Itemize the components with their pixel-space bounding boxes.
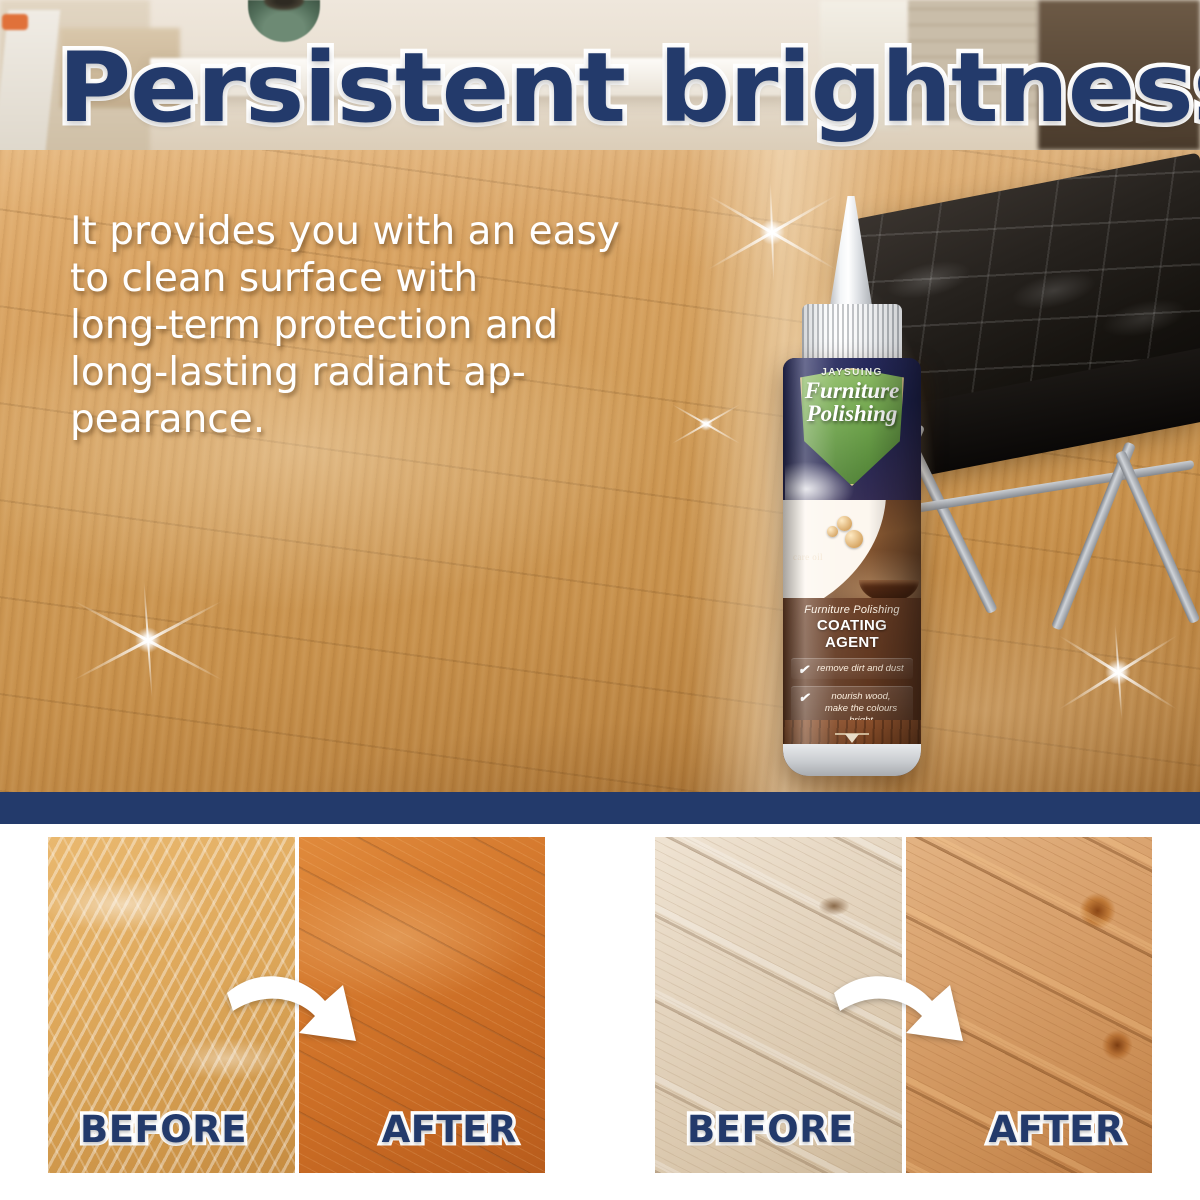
comparison-section: BEFORE AFTER BEFORE AFTER	[0, 824, 1200, 1200]
bottle-label: JAYSUING Furniture Polishing care oil Fu…	[783, 358, 921, 776]
after-label: AFTER	[382, 1108, 517, 1151]
hero-description: It provides you with an easy to clean su…	[70, 208, 670, 443]
brand-name: JAYSUING	[821, 367, 882, 378]
comparison-panel-1: BEFORE AFTER	[48, 837, 545, 1173]
hero-description-line: pearance.	[70, 396, 670, 443]
drawer-handle-icon	[832, 726, 872, 742]
hero-description-line: long-lasting radiant ap-	[70, 349, 670, 396]
label-bullet: ✔ remove dirt and dust	[791, 658, 913, 679]
curved-arrow-icon	[832, 971, 982, 1066]
bench-leg	[1115, 450, 1200, 624]
label-subtitle: Furniture Polishing	[791, 604, 913, 616]
comparison-panel-2: BEFORE AFTER	[655, 837, 1152, 1173]
product-name-line2: Polishing	[807, 402, 898, 425]
page-title: Persistent brightness	[58, 36, 1192, 140]
bottle-cap	[802, 304, 902, 366]
label-info-section: Furniture Polishing COATING AGENT ✔ remo…	[783, 598, 921, 726]
label-product-type: COATING AGENT	[791, 617, 913, 651]
product-bottle: JAYSUING Furniture Polishing care oil Fu…	[757, 196, 943, 776]
product-name-line1: Furniture	[805, 379, 900, 402]
bottle-base	[783, 744, 921, 776]
hero-description-line: long-term protection and	[70, 302, 670, 349]
check-icon: ✔	[798, 692, 810, 704]
hero-description-line: to clean surface with	[70, 255, 670, 302]
hero-section: Persistent brightness It provides you wi…	[0, 0, 1200, 792]
before-label: BEFORE	[687, 1108, 854, 1151]
after-label: AFTER	[989, 1108, 1124, 1151]
oil-droplets-icon	[827, 516, 867, 550]
label-top-section: JAYSUING Furniture Polishing	[783, 358, 921, 508]
check-icon: ✔	[798, 664, 810, 676]
room-orange-accent	[2, 14, 28, 30]
label-bullet-text: remove dirt and dust	[817, 663, 904, 674]
care-oil-label: care oil	[793, 552, 823, 562]
hero-description-line: It provides you with an easy	[70, 208, 670, 255]
curved-arrow-icon	[225, 971, 375, 1066]
label-scene-section: care oil	[783, 500, 921, 604]
before-label: BEFORE	[80, 1108, 247, 1151]
brand-shield-text: JAYSUING Furniture Polishing	[783, 358, 921, 508]
divider-band	[0, 792, 1200, 824]
